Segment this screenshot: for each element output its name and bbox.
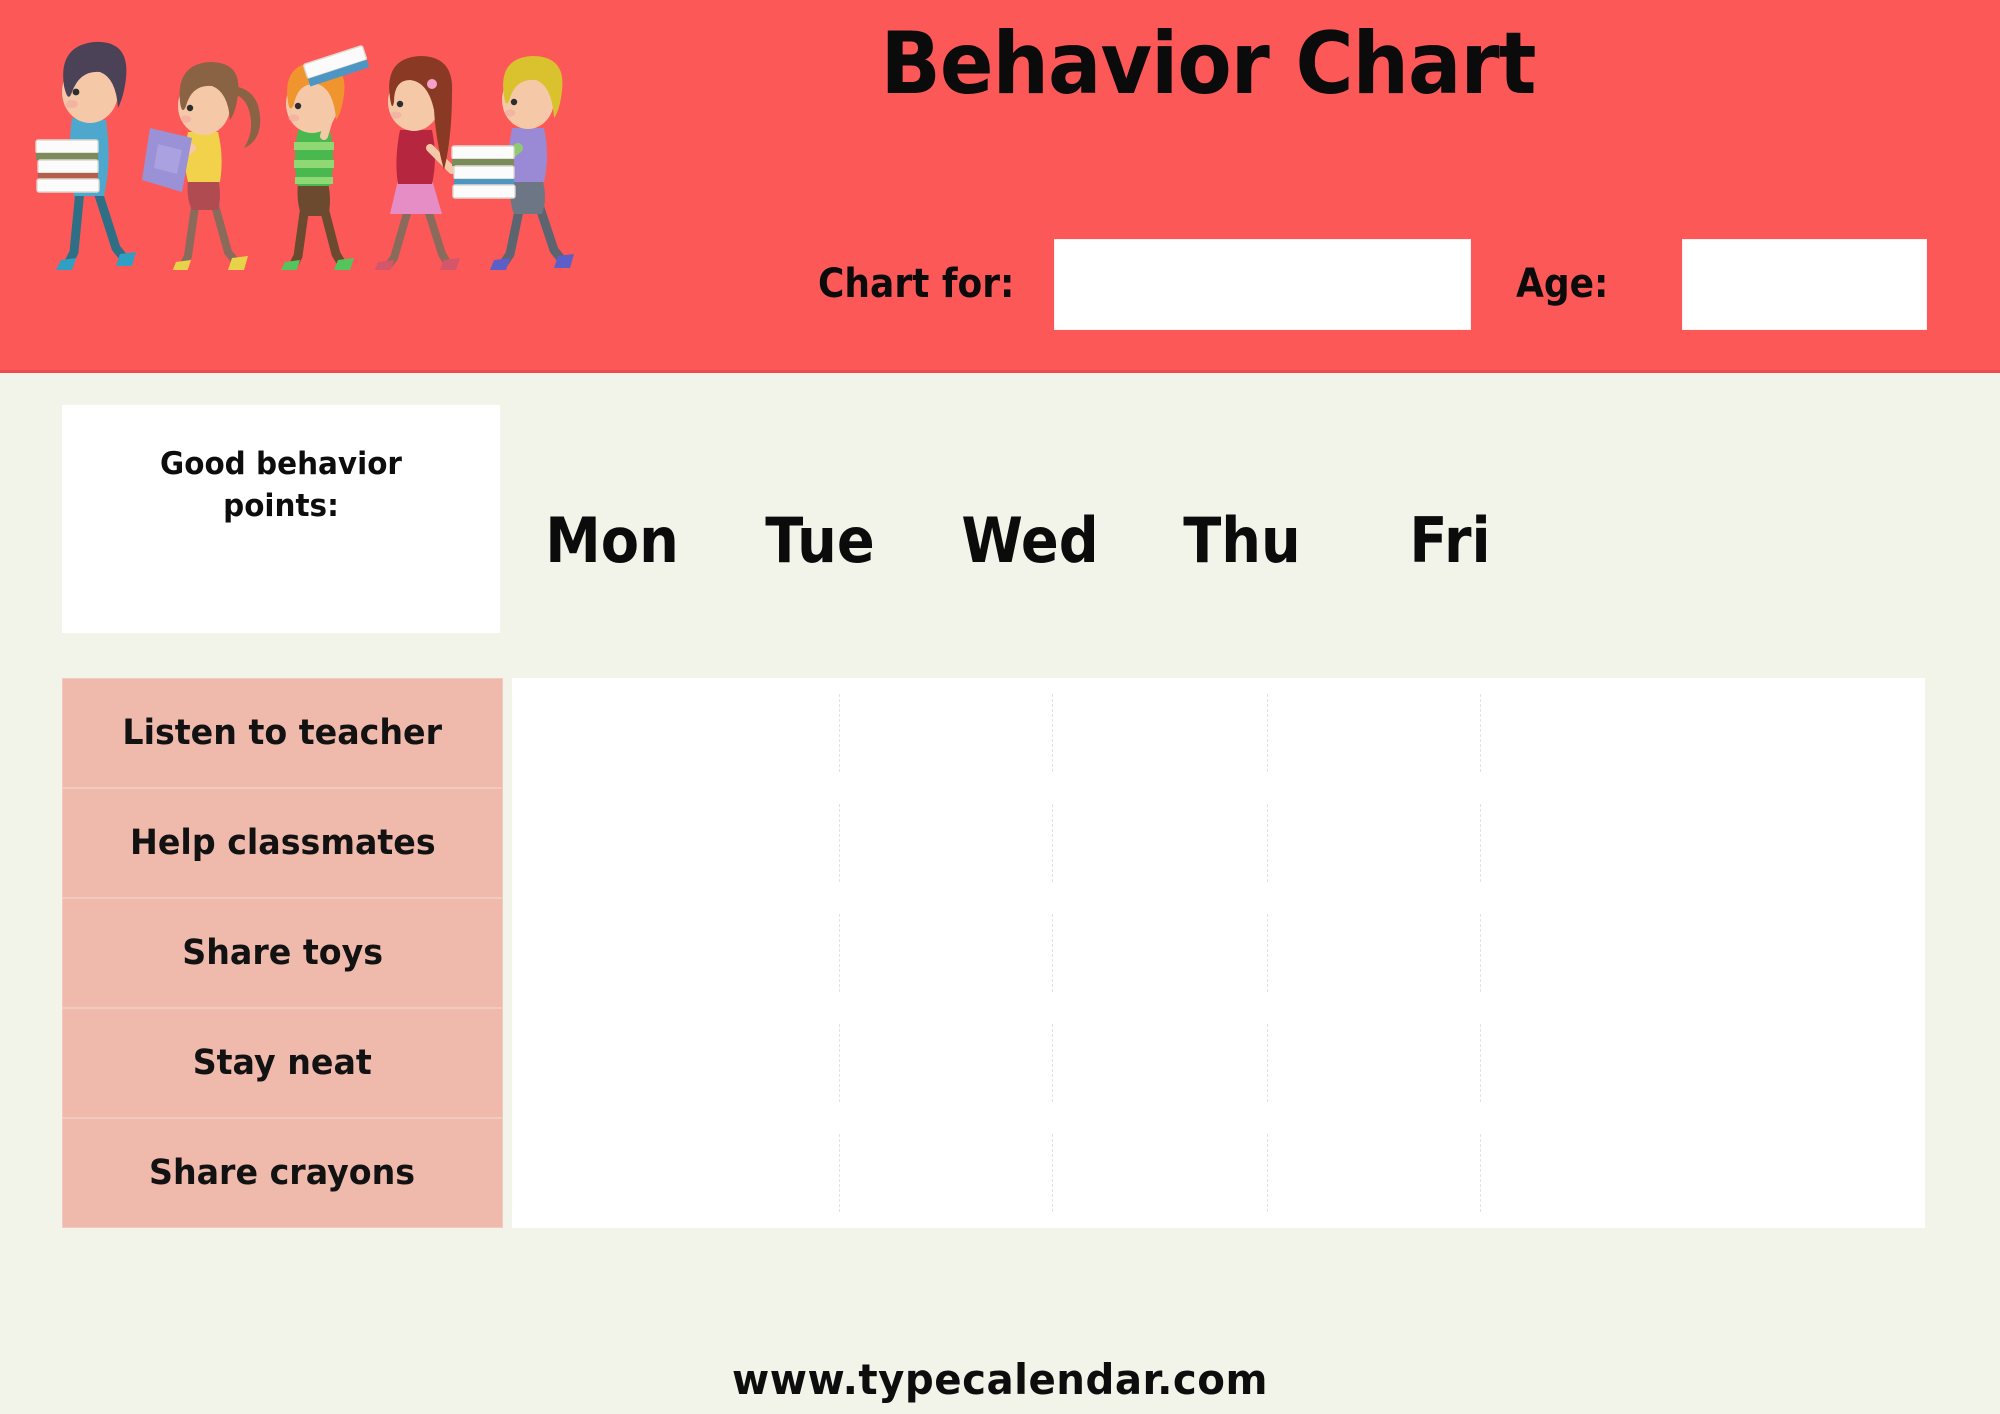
row-label-text: Help classmates: [130, 823, 436, 863]
row-label-text: Stay neat: [193, 1043, 372, 1083]
row-label-stay-neat[interactable]: Stay neat: [62, 1008, 503, 1118]
header-form: Chart for: Age:: [818, 236, 1930, 332]
footer-url: www.typecalendar.com: [40, 1352, 1960, 1414]
cell-divider: [839, 1134, 840, 1212]
row-cells: [512, 898, 1925, 1008]
chart-sheet: Good behavior points: Mon Tue Wed Thu Fr…: [0, 373, 2000, 1414]
children-carrying-books-illustration: [28, 20, 638, 270]
cell-divider: [1267, 804, 1268, 882]
cell-divider: [1480, 914, 1481, 992]
age-label: Age:: [1516, 236, 1608, 332]
row-label-share-toys[interactable]: Share toys: [62, 898, 503, 1008]
cell-divider: [839, 1024, 840, 1102]
row-cells: [512, 1118, 1925, 1228]
row-label-text: Listen to teacher: [123, 713, 443, 753]
row-cells: [512, 788, 1925, 898]
table-row: Help classmates: [0, 788, 2000, 898]
row-cells: [512, 678, 1925, 788]
cell-divider: [1480, 1024, 1481, 1102]
cell-divider: [1052, 804, 1053, 882]
row-label-help-classmates[interactable]: Help classmates: [62, 788, 503, 898]
header-band: Behavior Chart Chart for: Age:: [0, 0, 2000, 373]
chart-for-label: Chart for:: [818, 236, 1014, 332]
cell-divider: [1052, 914, 1053, 992]
cell-divider: [1267, 694, 1268, 772]
chart-for-input[interactable]: [1055, 240, 1470, 329]
table-row: Stay neat: [0, 1008, 2000, 1118]
row-label-text: Share toys: [182, 933, 383, 973]
cell-divider: [839, 804, 840, 882]
row-label-share-crayons[interactable]: Share crayons: [62, 1118, 503, 1228]
behavior-rows: Listen to teacher Help classmates: [0, 373, 2000, 1414]
row-label-listen-to-teacher[interactable]: Listen to teacher: [62, 678, 503, 788]
cell-divider: [1267, 1024, 1268, 1102]
table-row: Listen to teacher: [0, 678, 2000, 788]
cell-divider: [1052, 1134, 1053, 1212]
age-input[interactable]: [1683, 240, 1926, 329]
cell-divider: [1052, 1024, 1053, 1102]
cell-divider: [1480, 804, 1481, 882]
cell-divider: [1052, 694, 1053, 772]
cell-divider: [1480, 694, 1481, 772]
row-cells: [512, 1008, 1925, 1118]
page-title: Behavior Chart: [849, 14, 1567, 114]
row-label-text: Share crayons: [149, 1153, 415, 1193]
table-row: Share crayons: [0, 1118, 2000, 1228]
cell-divider: [839, 694, 840, 772]
table-row: Share toys: [0, 898, 2000, 1008]
cell-divider: [839, 914, 840, 992]
cell-divider: [1480, 1134, 1481, 1212]
cell-divider: [1267, 1134, 1268, 1212]
cell-divider: [1267, 914, 1268, 992]
